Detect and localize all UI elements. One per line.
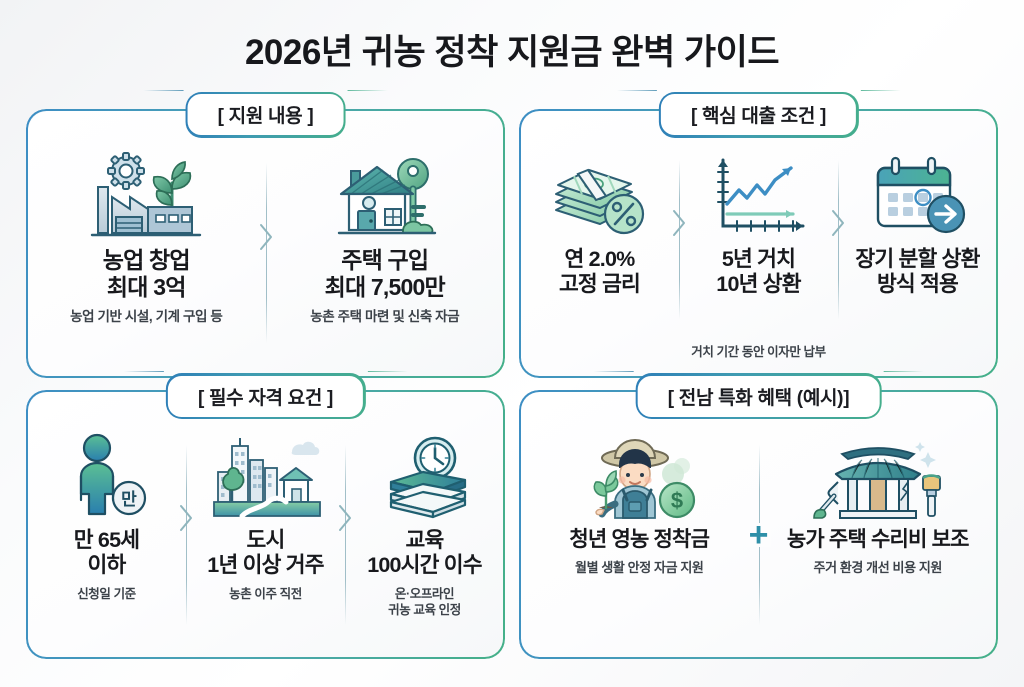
- column-house-repair-subsidy: 농가 주택 수리비 보조 주거 환경 개선 비용 지원: [772, 422, 985, 648]
- column-title: 주택 구입 최대 7,500만: [325, 247, 445, 301]
- column-separator-chevron: [173, 422, 199, 648]
- card-header-label: [ 핵심 대출 조건 ]: [661, 94, 856, 135]
- card-columns: 연 2.0% 고정 금리: [533, 141, 984, 340]
- page-title: 2026년 귀농 정착 지원금 완벽 가이드: [0, 0, 1024, 73]
- column-title: 만 65세 이하: [74, 528, 139, 579]
- card-header-label: [ 전남 특화 혜택 (예시)]: [638, 376, 879, 417]
- pill-connector-right: [884, 371, 924, 372]
- loan-footnote: 거치 기간 동안 이자만 납부: [533, 341, 984, 366]
- chevron-right-icon: [177, 503, 195, 538]
- column-title: 농업 창업 최대 3억: [103, 247, 190, 301]
- column-separator-chevron: [253, 141, 279, 367]
- column-city-residence: 도시 1년 이상 거주 농촌 이주 직전: [199, 422, 332, 648]
- column-title: 장기 분할 상환 방식 적용: [855, 247, 979, 298]
- house-key-icon: [325, 147, 445, 243]
- svg-text:만: 만: [121, 490, 137, 509]
- column-title: 연 2.0% 고정 금리: [559, 247, 640, 298]
- card-header-pill-jeonnam: [ 전남 특화 혜택 (예시)]: [635, 373, 882, 419]
- card-header-label: [ 필수 자격 요건 ]: [168, 376, 363, 417]
- column-education-hours: 교육 100시간 이수 온·오프라인 귀농 교육 인정: [358, 422, 491, 648]
- card-columns: 농업 창업 최대 3억 농업 기반 시설, 기계 구입 등: [40, 141, 491, 367]
- column-farm-startup: 농업 창업 최대 3억 농업 기반 시설, 기계 구입 등: [40, 141, 253, 367]
- column-subtitle: 온·오프라인 귀농 교육 인정: [388, 586, 461, 619]
- card-header-pill-loan: [ 핵심 대출 조건 ]: [658, 92, 858, 138]
- chevron-right-icon: [829, 208, 847, 243]
- card-jeonnam-benefits: [ 전남 특화 혜택 (예시)]: [521, 392, 996, 658]
- card-support-contents: [ 지원 내용 ]: [28, 111, 503, 377]
- card-loan-conditions: [ 핵심 대출 조건 ]: [521, 111, 996, 377]
- column-title: 도시 1년 이상 거주: [207, 528, 323, 579]
- pill-connector-right: [348, 90, 388, 91]
- factory-gear-plant-icon: [86, 147, 206, 243]
- pill-connector-left: [593, 371, 633, 372]
- column-separator-chevron: [825, 141, 851, 340]
- growth-chart-icon: [707, 147, 811, 243]
- column-subtitle: 주거 환경 개선 비용 지원: [814, 560, 942, 577]
- card-header-label: [ 지원 내용 ]: [188, 94, 344, 135]
- hanok-repair-tools-icon: [808, 428, 948, 524]
- pill-connector-right: [368, 371, 408, 372]
- column-separator-chevron: [332, 422, 358, 648]
- column-separator-chevron: [666, 141, 692, 340]
- column-title: 청년 영농 정착금: [569, 528, 709, 553]
- svg-text:$: $: [671, 488, 683, 513]
- column-age-limit: 만 만 65세 이하 신청일 기준: [40, 422, 173, 648]
- column-interest-rate: 연 2.0% 고정 금리: [533, 141, 666, 340]
- column-long-term-installment: 장기 분할 상환 방식 적용: [851, 141, 984, 340]
- card-columns: $ 청년 영농 정착금 월별 생활 안정 자금 지원 +: [533, 422, 984, 648]
- column-title: 교육 100시간 이수: [367, 528, 482, 579]
- plus-icon: +: [746, 523, 772, 547]
- card-header-pill-support: [ 지원 내용 ]: [185, 92, 346, 138]
- young-farmer-money-icon: $: [569, 428, 709, 524]
- chevron-right-icon: [336, 503, 354, 538]
- pill-connector-left: [123, 371, 163, 372]
- calendar-arrow-icon: [866, 147, 970, 243]
- column-subtitle: 신청일 기준: [77, 586, 136, 602]
- column-title: 농가 주택 수리비 보조: [787, 528, 969, 553]
- pill-connector-left: [616, 90, 656, 91]
- card-eligibility: [ 필수 자격 요건 ] 만: [28, 392, 503, 658]
- column-subtitle: 농촌 주택 마련 및 신축 자금: [310, 308, 459, 326]
- column-subtitle: 월별 생활 안정 자금 지원: [575, 560, 703, 577]
- card-header-pill-eligibility: [ 필수 자격 요건 ]: [165, 373, 365, 419]
- column-subtitle: 농촌 이주 직전: [229, 586, 302, 602]
- chevron-right-icon: [257, 222, 275, 257]
- pill-connector-left: [143, 90, 183, 91]
- column-separator-plus: +: [746, 422, 772, 648]
- column-title: 5년 거치 10년 상환: [716, 247, 800, 298]
- column-grace-repayment: 5년 거치 10년 상환: [692, 141, 825, 340]
- cash-percent-icon: [548, 147, 652, 243]
- cards-grid: [ 지원 내용 ]: [0, 73, 1024, 678]
- card-columns: 만 만 65세 이하 신청일 기준: [40, 422, 491, 648]
- column-subtitle: 농업 기반 시설, 기계 구입 등: [70, 308, 222, 326]
- column-young-farmer-fund: $ 청년 영농 정착금 월별 생활 안정 자금 지원: [533, 422, 746, 648]
- city-to-rural-icon: [206, 428, 326, 524]
- books-clock-icon: [373, 428, 477, 524]
- pill-connector-right: [861, 90, 901, 91]
- column-house-purchase: 주택 구입 최대 7,500만 농촌 주택 마련 및 신축 자금: [279, 141, 492, 367]
- person-age-badge-icon: 만: [57, 428, 157, 524]
- chevron-right-icon: [670, 208, 688, 243]
